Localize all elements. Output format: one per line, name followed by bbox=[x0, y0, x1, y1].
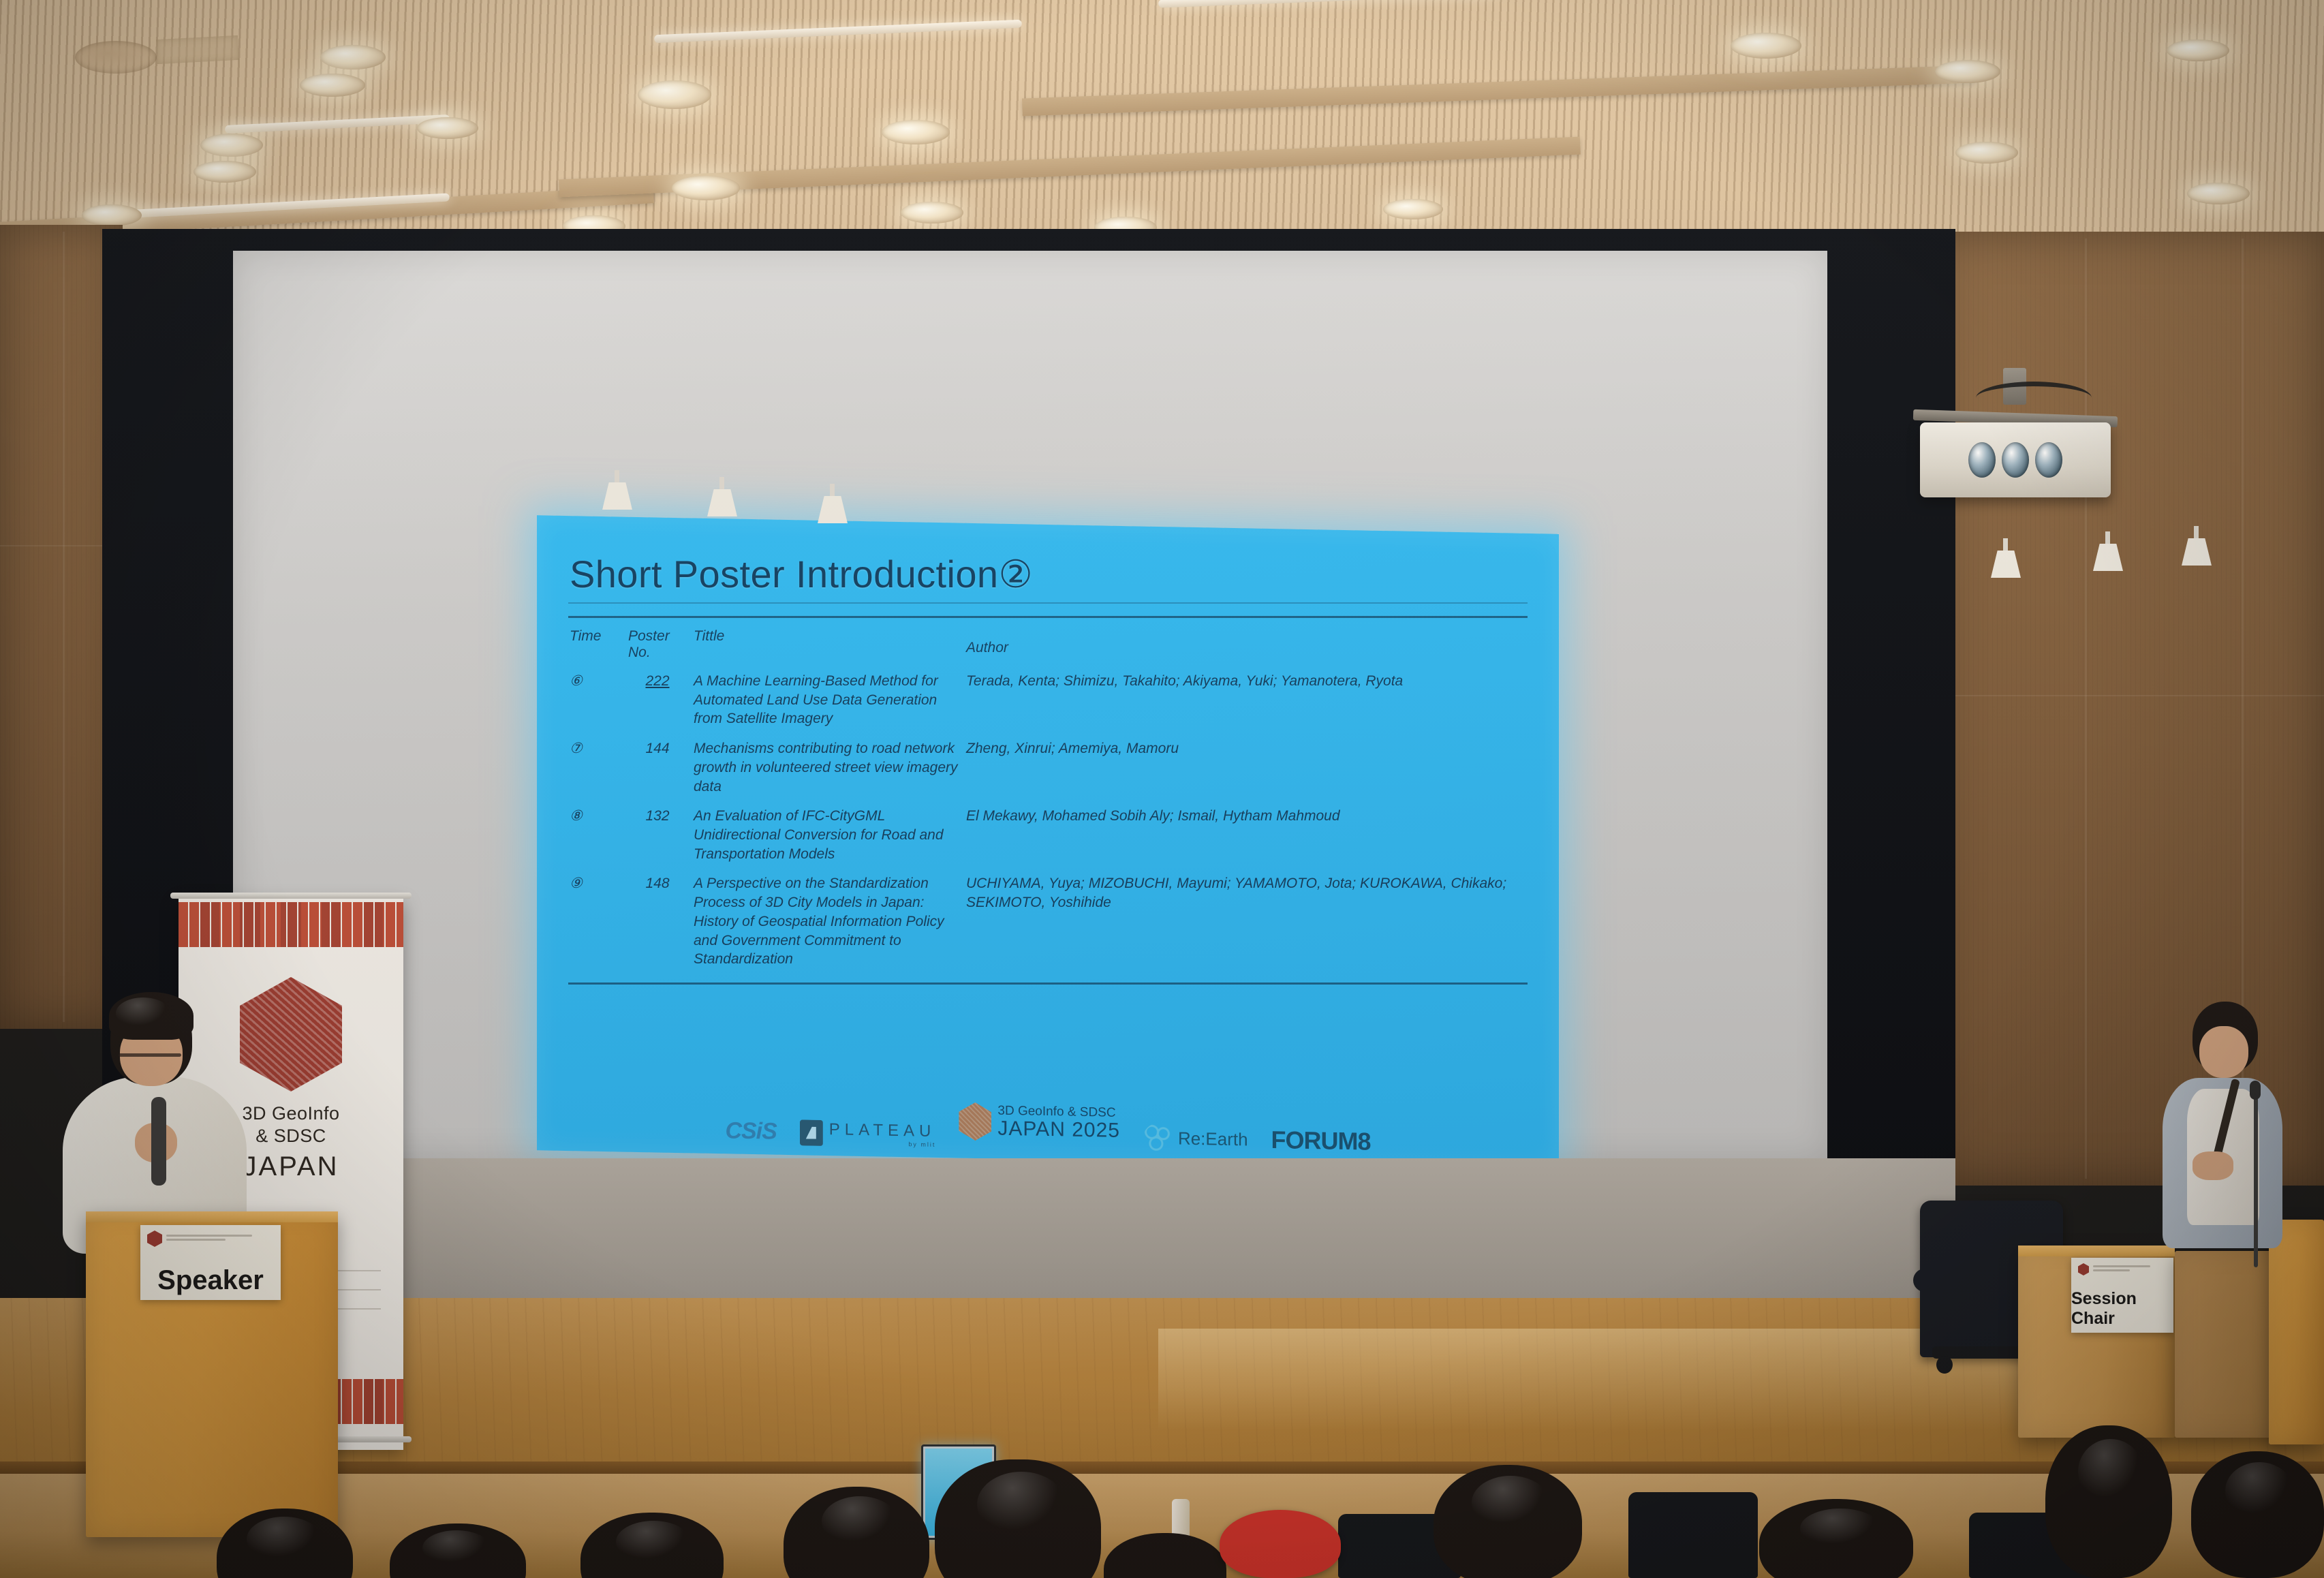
plateau-icon bbox=[800, 1119, 823, 1146]
ceiling-downlight-5 bbox=[193, 161, 256, 183]
speaker-sign-label: Speaker bbox=[157, 1265, 264, 1296]
row-title: A Perspective on the Standardization Pro… bbox=[691, 866, 963, 972]
plateau-wordmark: PLATEAU by mlit bbox=[829, 1120, 936, 1148]
row-time: ⑨ bbox=[567, 866, 625, 972]
hair-highlight bbox=[1472, 1476, 1549, 1529]
row-poster-no: 144 bbox=[625, 731, 691, 799]
hexagon-icon bbox=[959, 1102, 991, 1141]
row-poster-no[interactable]: 222 bbox=[625, 664, 691, 731]
speaker-sign-logo bbox=[147, 1231, 274, 1247]
row-author: El Mekawy, Mohamed Sobih Aly; Ismail, Hy… bbox=[963, 799, 1529, 866]
speaker-hair-highlight bbox=[116, 997, 170, 1029]
table-bottom-rule bbox=[568, 983, 1528, 985]
wall-seam-right-h bbox=[1935, 695, 2324, 696]
ceiling-downlight-19 bbox=[1383, 199, 1443, 219]
ceiling-downlight-18 bbox=[2187, 183, 2250, 204]
speaker-glasses bbox=[119, 1053, 181, 1057]
ceiling-downlight-17 bbox=[2167, 40, 2229, 61]
row-author: Terada, Kenta; Shimizu, Takahito; Akiyam… bbox=[963, 664, 1529, 731]
audience-seat-1 bbox=[1628, 1492, 1758, 1578]
slide-title: Short Poster Introduction② bbox=[570, 552, 1529, 597]
title-underline bbox=[568, 602, 1528, 604]
audience-red-hat bbox=[1220, 1510, 1341, 1578]
projector-lens-1 bbox=[1968, 442, 1996, 478]
row-time: ⑦ bbox=[567, 731, 625, 799]
forum8-wordmark: FORUM8 bbox=[1271, 1126, 1371, 1156]
attendee-standing-right bbox=[2160, 1002, 2289, 1254]
header-poster-line1: Poster bbox=[628, 628, 670, 644]
session-chair-podium-top bbox=[2018, 1246, 2175, 1256]
sign-placeholder-lines bbox=[2093, 1265, 2167, 1273]
table-row: ⑦ 144 Mechanisms contributing to road ne… bbox=[567, 731, 1529, 799]
banner-top-rail bbox=[170, 893, 412, 899]
ceiling-downlight-11 bbox=[882, 120, 950, 144]
banner-hexagon-logo bbox=[240, 977, 342, 1092]
header-time: Time bbox=[567, 622, 625, 664]
table-top-rule bbox=[568, 616, 1528, 618]
event-wordmark: 3D GeoInfo & SDSC JAPAN 2025 bbox=[997, 1104, 1120, 1142]
ceiling-downlight-7 bbox=[638, 80, 711, 109]
row-poster-no: 132 bbox=[625, 799, 691, 866]
chair-armrest bbox=[1913, 1269, 1985, 1292]
header-author: Author bbox=[963, 622, 1529, 664]
speaker-podium-top bbox=[86, 1211, 338, 1222]
reearth-wordmark: Re:Earth bbox=[1178, 1128, 1248, 1150]
ceiling-downlight-off-1 bbox=[75, 41, 157, 74]
standing-person-face bbox=[2199, 1026, 2248, 1078]
ceiling-projector bbox=[1920, 422, 2111, 497]
ceiling-downlight-6 bbox=[82, 204, 142, 226]
microphone-handle bbox=[151, 1097, 166, 1186]
ceiling-downlight-2 bbox=[320, 45, 386, 69]
table-row: ⑧ 132 An Evaluation of IFC-CityGML Unidi… bbox=[567, 799, 1529, 866]
reearth-icon bbox=[1143, 1124, 1172, 1153]
ceiling-downlight-12 bbox=[901, 202, 963, 223]
chair-caster bbox=[1936, 1356, 1953, 1374]
hexagon-icon bbox=[147, 1231, 162, 1247]
row-title: A Machine Learning-Based Method for Auto… bbox=[691, 664, 963, 731]
floor-microphone-stand bbox=[2254, 1097, 2258, 1267]
ceiling-downlight-8 bbox=[672, 176, 740, 200]
ceiling-downlight-14 bbox=[1731, 33, 1801, 59]
row-title: Mechanisms contributing to road network … bbox=[691, 731, 963, 799]
hair-highlight bbox=[422, 1530, 491, 1566]
hair-highlight bbox=[2225, 1462, 2293, 1519]
wall-seam-right-1 bbox=[2085, 238, 2087, 1179]
hair-highlight bbox=[1800, 1509, 1880, 1548]
poster-schedule-table: Time Poster No. Tittle Author ⑥ bbox=[567, 622, 1529, 972]
header-poster-line2: No. bbox=[628, 645, 651, 660]
hair-highlight bbox=[2078, 1439, 2143, 1504]
stage-front-edge bbox=[0, 1461, 2324, 1474]
conference-room-photo: Short Poster Introduction② Time Poster N… bbox=[0, 0, 2324, 1578]
logo-plateau: PLATEAU by mlit bbox=[800, 1119, 936, 1148]
header-title: Tittle bbox=[691, 622, 963, 664]
logo-reearth: Re:Earth bbox=[1143, 1124, 1248, 1154]
row-author: UCHIYAMA, Yuya; MIZOBUCHI, Mayumi; YAMAM… bbox=[963, 866, 1529, 972]
projector-lens-2 bbox=[2002, 442, 2029, 478]
session-chair-sign: Session Chair bbox=[2071, 1258, 2173, 1333]
row-poster-no: 148 bbox=[625, 866, 691, 972]
projector-lens-3 bbox=[2035, 442, 2062, 478]
hair-highlight bbox=[616, 1521, 691, 1563]
ceiling-downlight-15 bbox=[1935, 60, 2000, 83]
ceiling-downlight-3 bbox=[300, 74, 365, 97]
floor-microphone-head bbox=[2250, 1081, 2261, 1100]
ceiling-light-plate-1 bbox=[156, 35, 239, 64]
banner-pattern-top bbox=[179, 902, 403, 947]
ceiling-downlight-16 bbox=[1955, 142, 2018, 164]
hair-highlight bbox=[247, 1517, 322, 1562]
logo-event: 3D GeoInfo & SDSC JAPAN 2025 bbox=[959, 1102, 1120, 1143]
ceiling-downlight-4 bbox=[200, 134, 263, 157]
hexagon-icon bbox=[2078, 1263, 2089, 1275]
side-table-podium bbox=[2175, 1251, 2284, 1438]
hair-highlight bbox=[977, 1472, 1066, 1537]
row-time: ⑧ bbox=[567, 799, 625, 866]
sign-placeholder-lines bbox=[166, 1235, 274, 1243]
table-row: ⑥ 222 A Machine Learning-Based Method fo… bbox=[567, 664, 1529, 731]
csis-wordmark: CSiS bbox=[725, 1117, 776, 1145]
session-chair-sign-label: Session Chair bbox=[2071, 1289, 2173, 1329]
ceiling-downlight-10 bbox=[417, 117, 478, 139]
wall-seam-left bbox=[63, 232, 65, 1022]
row-time: ⑥ bbox=[567, 664, 625, 731]
row-author: Zheng, Xinrui; Amemiya, Mamoru bbox=[963, 731, 1529, 799]
header-poster-no: Poster No. bbox=[625, 622, 691, 664]
speaker-sign: Speaker bbox=[140, 1225, 281, 1300]
logo-forum8: FORUM8 bbox=[1271, 1126, 1371, 1156]
projected-slide: Short Poster Introduction② Time Poster N… bbox=[537, 515, 1559, 1169]
logo-csis: CSiS bbox=[725, 1117, 776, 1145]
table-header-row: Time Poster No. Tittle Author bbox=[567, 622, 1529, 664]
session-chair-sign-logo bbox=[2078, 1263, 2167, 1275]
row-title: An Evaluation of IFC-CityGML Unidirectio… bbox=[691, 799, 963, 866]
standing-person-hands bbox=[2193, 1151, 2233, 1180]
table-row: ⑨ 148 A Perspective on the Standardizati… bbox=[567, 866, 1529, 972]
hair-highlight bbox=[822, 1496, 898, 1547]
